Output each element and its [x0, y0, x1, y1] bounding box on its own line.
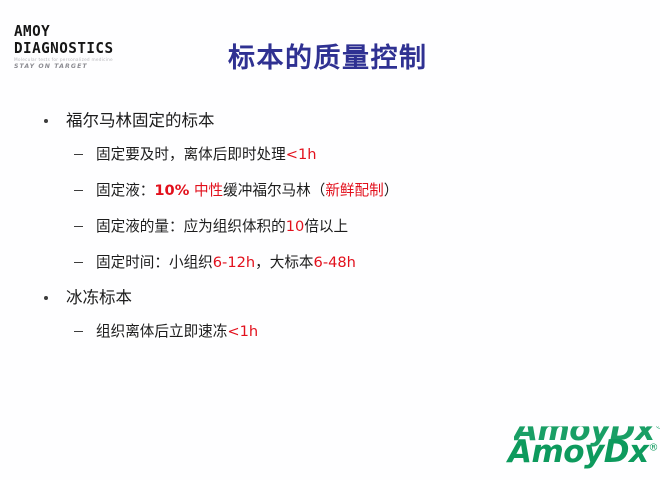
- text-run: 固定要及时，离体后即时处理: [96, 146, 286, 163]
- page-title: 标本的质量控制: [228, 36, 428, 75]
- amoydx-ghost-trademark: ®: [655, 421, 660, 432]
- text-run: 冰冻标本: [66, 288, 132, 307]
- bullet-dash-icon: [74, 331, 83, 332]
- brand-line-diagnostics: DIAGNOSTICS: [14, 41, 161, 57]
- bullet-frozen-timing: 组织离体后立即速冻<1h: [0, 314, 660, 350]
- bullet-fixative-solution: 固定液：10% 中性缓冲福尔马林（新鲜配制）: [0, 173, 660, 209]
- bullet-dot-icon: [44, 119, 48, 123]
- bullet-dash-icon: [74, 226, 83, 227]
- text-run: <1h: [286, 146, 317, 163]
- text-run: <1h: [227, 323, 258, 340]
- amoy-diagnostics-logo: AMOY DIAGNOSTICS Molecular tests for per…: [14, 24, 174, 71]
- bullet-frozen-specimen: 冰冻标本: [0, 281, 660, 314]
- text-run: 10: [286, 218, 305, 235]
- brand-tagline-bold: STAY ON TARGET: [14, 64, 174, 70]
- text-run: 10%: [154, 182, 189, 199]
- text-run: 6-48h: [314, 254, 356, 271]
- bullet-formalin-fixed-specimen: 福尔马林固定的标本: [0, 104, 660, 137]
- text-run: 组织离体后立即速冻: [96, 323, 227, 340]
- text-run: 福尔马林固定的标本: [66, 111, 215, 130]
- bullet-fixation-timing: 固定要及时，离体后即时处理<1h: [0, 137, 660, 173]
- amoydx-wordmark: AmoyDx® AmoyDx®: [508, 412, 650, 474]
- amoydx-text: AmoyDx: [508, 434, 649, 470]
- brand-line-amoy: AMOY: [14, 24, 161, 40]
- text-run: 固定时间：小组织: [96, 254, 213, 271]
- text-run: 固定液的量：应为组织体积的: [96, 218, 286, 235]
- brand-tagline-small: Molecular tests for personalized medicin…: [14, 59, 169, 63]
- bullet-fixation-duration: 固定时间：小组织6-12h，大标本6-48h: [0, 245, 660, 281]
- bullet-dash-icon: [74, 262, 83, 263]
- amoydx-trademark: ®: [649, 443, 659, 454]
- amoydx-wordmark-main: AmoyDx®: [508, 434, 658, 470]
- text-run: 缓冲福尔马林（: [223, 182, 325, 199]
- text-run: 固定液：: [96, 182, 154, 199]
- bullet-dash-icon: [74, 190, 83, 191]
- text-run: ）: [384, 182, 399, 199]
- bullet-dash-icon: [74, 154, 83, 155]
- text-run: 中性: [189, 182, 223, 199]
- slide-canvas: AMOY DIAGNOSTICS Molecular tests for per…: [0, 0, 660, 480]
- text-run: ，大标本: [255, 254, 313, 271]
- text-run: 6-12h: [213, 254, 255, 271]
- text-run: 新鲜配制: [325, 182, 383, 199]
- bullet-dot-icon: [44, 296, 48, 300]
- bullet-fixative-volume: 固定液的量：应为组织体积的10倍以上: [0, 209, 660, 245]
- text-run: 倍以上: [304, 218, 348, 235]
- slide-body: 福尔马林固定的标本固定要及时，离体后即时处理<1h固定液：10% 中性缓冲福尔马…: [0, 104, 660, 350]
